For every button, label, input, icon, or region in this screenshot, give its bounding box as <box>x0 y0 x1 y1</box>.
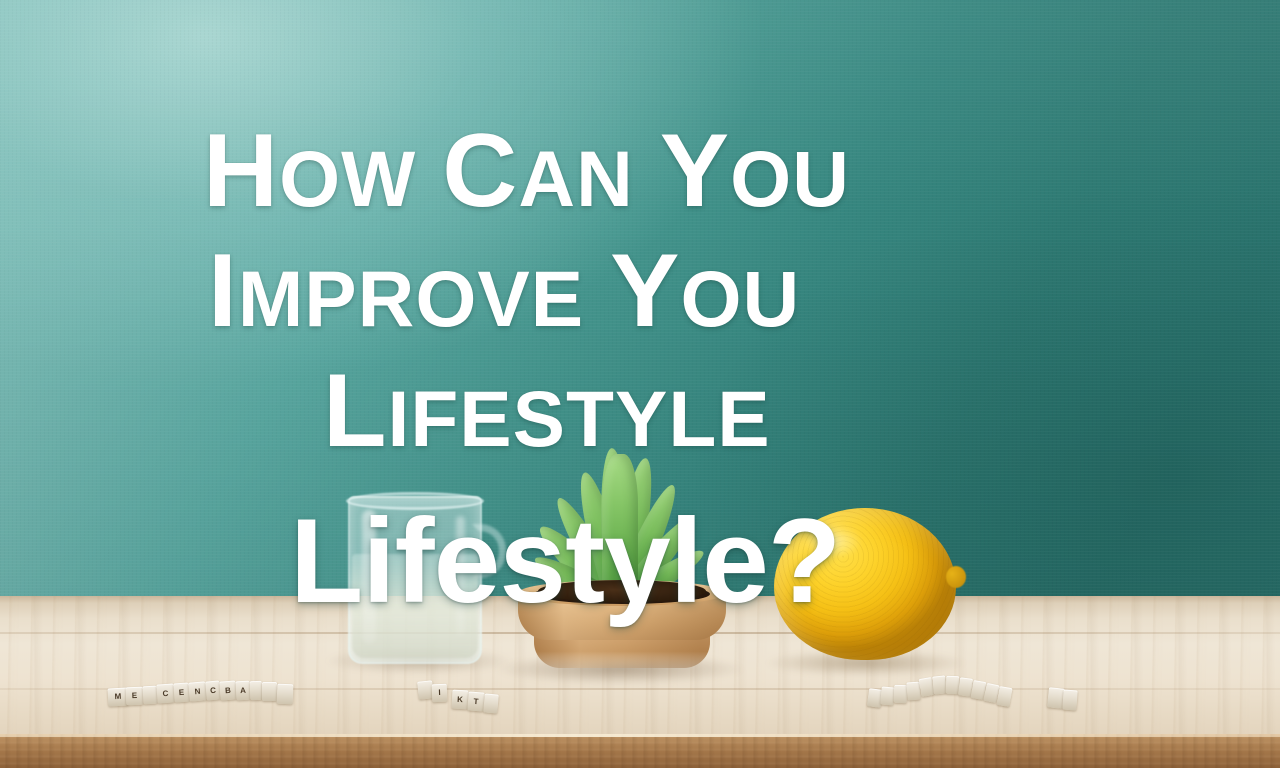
word-rest: IFESTYLE <box>388 375 771 463</box>
headline-line-1: HOWCANYOU <box>203 112 850 231</box>
word-rest: AN <box>518 135 633 223</box>
headline-word: YOU <box>610 232 800 351</box>
headline-word: HOW <box>203 112 416 231</box>
word-initial: L <box>323 353 388 469</box>
word-initial: Y <box>610 233 680 349</box>
headline-word: YOU <box>660 112 850 231</box>
word-rest: MPROVE <box>238 255 584 343</box>
word-rest: OU <box>730 135 850 223</box>
headline-line-2: IMPROVEYOU <box>208 232 800 351</box>
banner-image: M E C E N C B A I K T HOWCANYOU <box>0 0 1280 768</box>
headline-line-4: Lifestyle? <box>290 492 840 630</box>
word-initial: I <box>208 233 238 349</box>
headline-overlay: HOWCANYOU IMPROVEYOU LIFESTYLE Lifestyle… <box>0 0 1280 768</box>
headline-word: CAN <box>442 112 634 231</box>
word-rest: OW <box>279 135 416 223</box>
word-initial: H <box>203 113 279 229</box>
word-initial: Y <box>660 113 730 229</box>
headline-word: LIFESTYLE <box>323 352 771 471</box>
headline-word: IMPROVE <box>208 232 584 351</box>
word-initial: C <box>442 113 518 229</box>
headline-line-3: LIFESTYLE <box>323 352 771 471</box>
word-rest: OU <box>681 255 801 343</box>
